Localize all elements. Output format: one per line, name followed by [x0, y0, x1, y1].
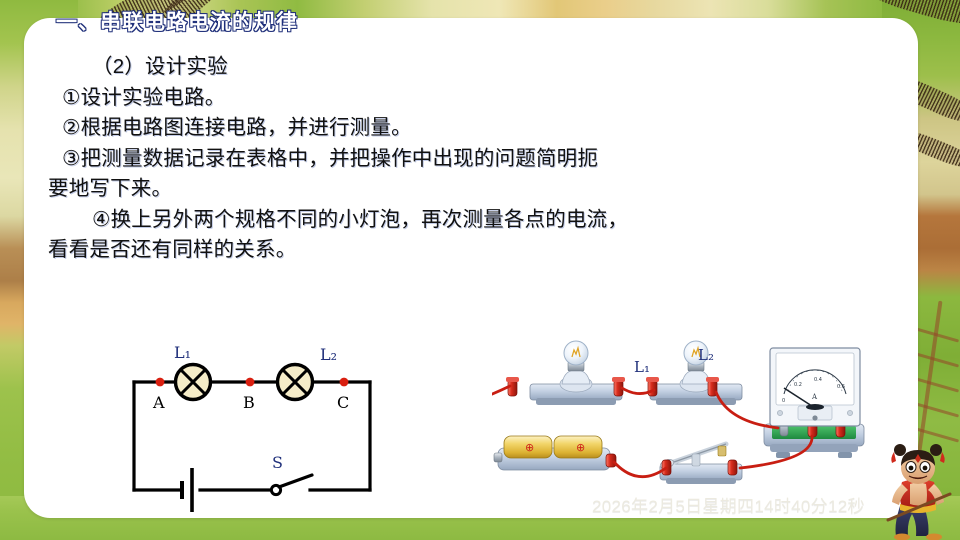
ammeter-tick-0: 0 [782, 398, 785, 404]
schematic-switch [271, 475, 312, 495]
circuit-schematic: L₁ L₂ A B C S [120, 340, 390, 512]
ammeter-tick-2: 0.4 [814, 377, 822, 383]
photo-lamp1-label: L₁ [634, 358, 650, 376]
schematic-lamp-2 [278, 365, 313, 400]
schematic-lamp-1 [176, 365, 211, 400]
slide-canvas: 一、串联电路电流的规律 （2）设计实验 ①设计实验电路。 ②根据电路图连接电路，… [0, 0, 960, 540]
photo-lamp-1 [506, 341, 625, 405]
body-line-4: 要地写下来。 [48, 174, 888, 205]
body-line-6: 看看是否还有同样的关系。 [48, 235, 888, 266]
ammeter-unit-label: A [811, 393, 818, 401]
photo-ammeter: 0 0.2 0.4 0.6 A [764, 348, 864, 458]
schematic-node-a [156, 378, 165, 387]
schematic-lamp2-label: L₂ [320, 345, 337, 364]
body-line-1: ①设计实验电路。 [48, 83, 888, 114]
schematic-point-a-label: A [152, 393, 165, 412]
body-line-5: ④换上另外两个规格不同的小灯泡，再次测量各点的电流， [48, 205, 888, 236]
battery-plus-2: ⊕ [576, 441, 585, 454]
photo-lamp2-label: L₂ [698, 346, 714, 364]
body-line-3: ③把测量数据记录在表格中，并把操作中出现的问题简明扼 [48, 144, 888, 175]
schematic-lamp1-label: L₁ [174, 343, 191, 362]
body-text-block: （2）设计实验 ①设计实验电路。 ②根据电路图连接电路，并进行测量。 ③把测量数… [48, 52, 888, 266]
photo-lamp-2 [646, 341, 742, 405]
schematic-point-c-label: C [337, 393, 349, 412]
schematic-node-b [246, 378, 255, 387]
body-line-0: （2）设计实验 [48, 52, 888, 83]
body-line-2: ②根据电路图连接电路，并进行测量。 [48, 113, 888, 144]
schematic-switch-label: S [272, 453, 283, 472]
timestamp-label: 2026年2月5日星期四14时40分12秒 [592, 492, 865, 517]
ammeter-tick-3: 0.6 [837, 384, 845, 390]
schematic-point-b-label: B [243, 393, 255, 412]
battery-plus-1: ⊕ [525, 441, 534, 454]
slide-title: 一、串联电路电流的规律 [56, 6, 298, 36]
mascot-nezha [880, 440, 956, 540]
circuit-photo: L₁ L₂ [492, 336, 872, 516]
photo-switch [659, 444, 742, 484]
schematic-battery [182, 468, 192, 512]
ammeter-tick-1: 0.2 [794, 382, 802, 388]
photo-battery-pack: ⊕ ⊕ [494, 436, 616, 470]
schematic-node-c [340, 378, 349, 387]
